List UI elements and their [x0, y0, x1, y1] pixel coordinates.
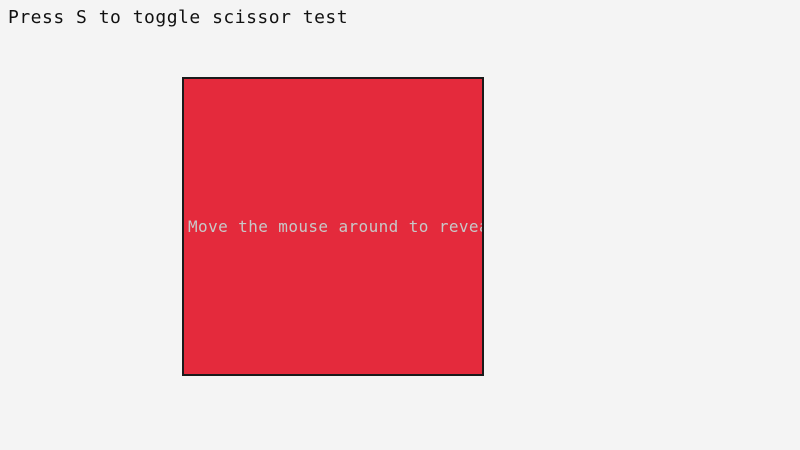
- scissor-test-canvas[interactable]: Press S to toggle scissor test Move the …: [0, 0, 800, 450]
- keyboard-hint-label: Press S to toggle scissor test: [8, 8, 348, 28]
- scissor-clipped-message: Move the mouse around to reveal the rest…: [188, 217, 484, 237]
- scissor-region-box[interactable]: Move the mouse around to reveal the rest…: [182, 77, 484, 376]
